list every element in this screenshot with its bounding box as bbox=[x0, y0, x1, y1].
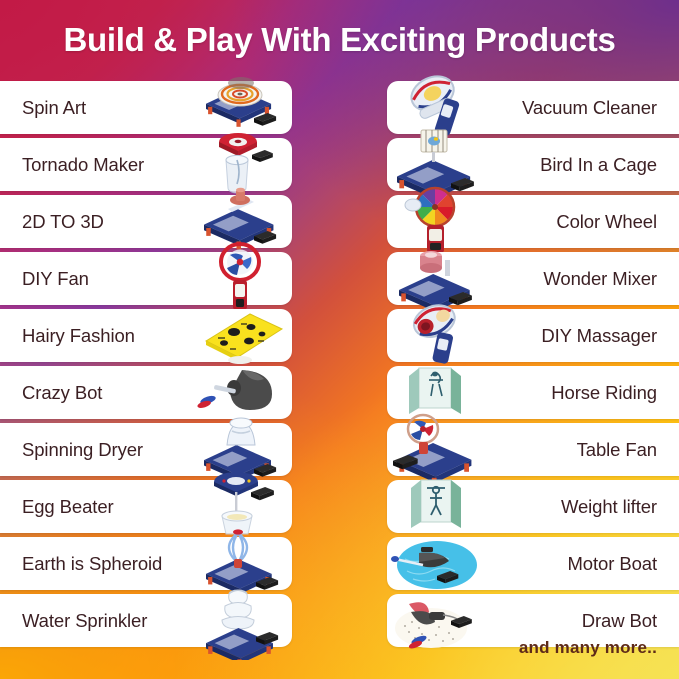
product-pill[interactable]: DIY Fan bbox=[0, 252, 292, 305]
product-label: Crazy Bot bbox=[22, 382, 102, 404]
product-label: Spinning Dryer bbox=[22, 439, 143, 461]
product-pill[interactable]: Vacuum Cleaner bbox=[387, 81, 679, 134]
product-list-left: Spin Art Tornado Maker bbox=[0, 81, 292, 651]
product-label: Weight lifter bbox=[561, 496, 657, 518]
product-label: Horse Riding bbox=[551, 382, 657, 404]
earth-is-spheroid-icon bbox=[194, 525, 290, 603]
wonder-mixer-icon bbox=[389, 240, 485, 318]
product-label: Spin Art bbox=[22, 97, 86, 119]
water-sprinkler-icon bbox=[194, 582, 290, 660]
product-pill[interactable]: Water Sprinkler bbox=[0, 594, 292, 647]
product-pill[interactable]: Earth is Spheroid bbox=[0, 537, 292, 590]
product-label: DIY Fan bbox=[22, 268, 89, 290]
product-pill[interactable]: DIY Massager bbox=[387, 309, 679, 362]
product-pill[interactable]: Crazy Bot bbox=[0, 366, 292, 419]
vacuum-cleaner-icon bbox=[389, 69, 485, 147]
product-pill[interactable]: Wonder Mixer bbox=[387, 252, 679, 305]
product-label: Water Sprinkler bbox=[22, 610, 147, 632]
egg-beater-icon bbox=[194, 468, 290, 546]
spin-art-icon bbox=[194, 69, 290, 147]
motor-boat-icon bbox=[389, 525, 485, 603]
product-pill[interactable]: Tornado Maker bbox=[0, 138, 292, 191]
product-label: Earth is Spheroid bbox=[22, 553, 162, 575]
draw-bot-icon bbox=[389, 582, 485, 660]
product-pill[interactable]: Bird In a Cage bbox=[387, 138, 679, 191]
product-pill[interactable]: Egg Beater bbox=[0, 480, 292, 533]
product-label: Tornado Maker bbox=[22, 154, 144, 176]
horse-riding-icon bbox=[389, 354, 485, 432]
product-pill[interactable]: Weight lifter bbox=[387, 480, 679, 533]
product-pill[interactable]: Spin Art bbox=[0, 81, 292, 134]
hairy-fashion-icon bbox=[194, 297, 290, 375]
product-label: DIY Massager bbox=[541, 325, 657, 347]
product-pill[interactable]: Hairy Fashion bbox=[0, 309, 292, 362]
spinning-dryer-icon bbox=[194, 411, 290, 489]
tornado-maker-icon bbox=[194, 126, 290, 204]
diy-massager-icon bbox=[389, 297, 485, 375]
product-label: Vacuum Cleaner bbox=[522, 97, 657, 119]
diy-fan-icon bbox=[194, 240, 290, 318]
product-label: Bird In a Cage bbox=[540, 154, 657, 176]
product-label: Wonder Mixer bbox=[543, 268, 657, 290]
poster-header: Build & Play With Exciting Products bbox=[0, 0, 679, 79]
product-pill[interactable]: Motor Boat bbox=[387, 537, 679, 590]
poster-root: Build & Play With Exciting Products Spin… bbox=[0, 0, 679, 679]
product-pill[interactable]: Horse Riding bbox=[387, 366, 679, 419]
and-many-more-note: and many more.. bbox=[519, 638, 657, 658]
bird-in-a-cage-icon bbox=[389, 126, 485, 204]
product-pill[interactable]: Color Wheel bbox=[387, 195, 679, 248]
product-label: Table Fan bbox=[577, 439, 657, 461]
product-pill[interactable]: Table Fan bbox=[387, 423, 679, 476]
table-fan-icon bbox=[389, 411, 485, 489]
product-label: Hairy Fashion bbox=[22, 325, 135, 347]
weight-lifter-icon bbox=[389, 468, 485, 546]
product-label: Motor Boat bbox=[568, 553, 658, 575]
product-label: Draw Bot bbox=[582, 610, 657, 632]
page-title: Build & Play With Exciting Products bbox=[63, 21, 615, 59]
crazy-bot-icon bbox=[194, 354, 290, 432]
product-pill[interactable]: Spinning Dryer bbox=[0, 423, 292, 476]
product-label: Color Wheel bbox=[556, 211, 657, 233]
product-pill[interactable]: 2D TO 3D bbox=[0, 195, 292, 248]
product-list-right: Vacuum Cleaner Bird In a Cage bbox=[387, 81, 679, 651]
color-wheel-icon bbox=[389, 183, 485, 261]
2d-to-3d-icon bbox=[194, 183, 290, 261]
product-label: Egg Beater bbox=[22, 496, 114, 518]
product-label: 2D TO 3D bbox=[22, 211, 104, 233]
